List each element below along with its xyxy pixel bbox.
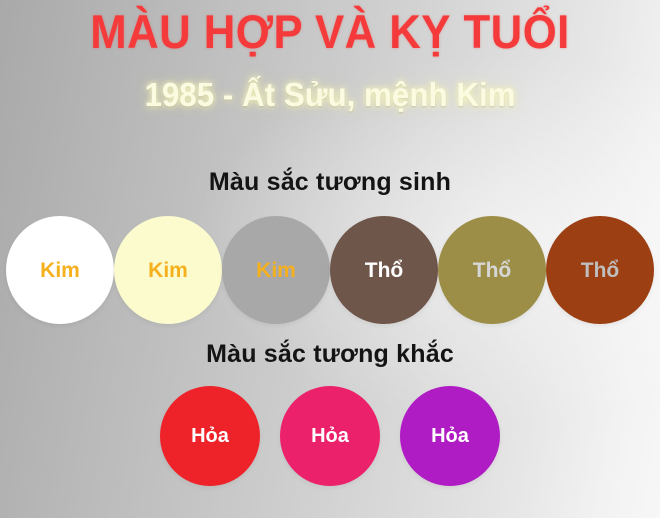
color-swatch[interactable]: Hỏa: [280, 386, 380, 486]
color-swatch[interactable]: Thổ: [330, 216, 438, 324]
swatch-label: Thổ: [473, 260, 511, 281]
color-swatch[interactable]: Thổ: [546, 216, 654, 324]
swatch-row-tuong-sinh: Kim Kim Kim Thổ Thổ Thổ: [0, 216, 660, 324]
color-swatch[interactable]: Thổ: [438, 216, 546, 324]
swatch-label: Kim: [40, 260, 80, 281]
swatch-label: Hỏa: [431, 426, 469, 446]
color-swatch[interactable]: Hỏa: [400, 386, 500, 486]
color-swatch[interactable]: Kim: [114, 216, 222, 324]
swatch-label: Thổ: [581, 260, 619, 281]
swatch-label: Kim: [256, 260, 296, 281]
swatch-label: Thổ: [365, 260, 403, 281]
color-swatch[interactable]: Kim: [6, 216, 114, 324]
color-swatch[interactable]: Kim: [222, 216, 330, 324]
section-heading-tuong-sinh: Màu sắc tương sinh: [0, 168, 660, 197]
section-heading-tuong-khac: Màu sắc tương khắc: [0, 340, 660, 369]
poster-canvas: MÀU HỢP VÀ KỴ TUỔI 1985 - Ất Sửu, mệnh K…: [0, 0, 660, 518]
swatch-label: Hỏa: [191, 426, 229, 446]
swatch-label: Hỏa: [311, 426, 349, 446]
page-subtitle: 1985 - Ất Sửu, mệnh Kim: [17, 78, 644, 111]
page-title: MÀU HỢP VÀ KỴ TUỔI: [23, 8, 637, 55]
swatch-label: Kim: [148, 260, 188, 281]
color-swatch[interactable]: Hỏa: [160, 386, 260, 486]
swatch-row-tuong-khac: Hỏa Hỏa Hỏa: [0, 386, 660, 486]
